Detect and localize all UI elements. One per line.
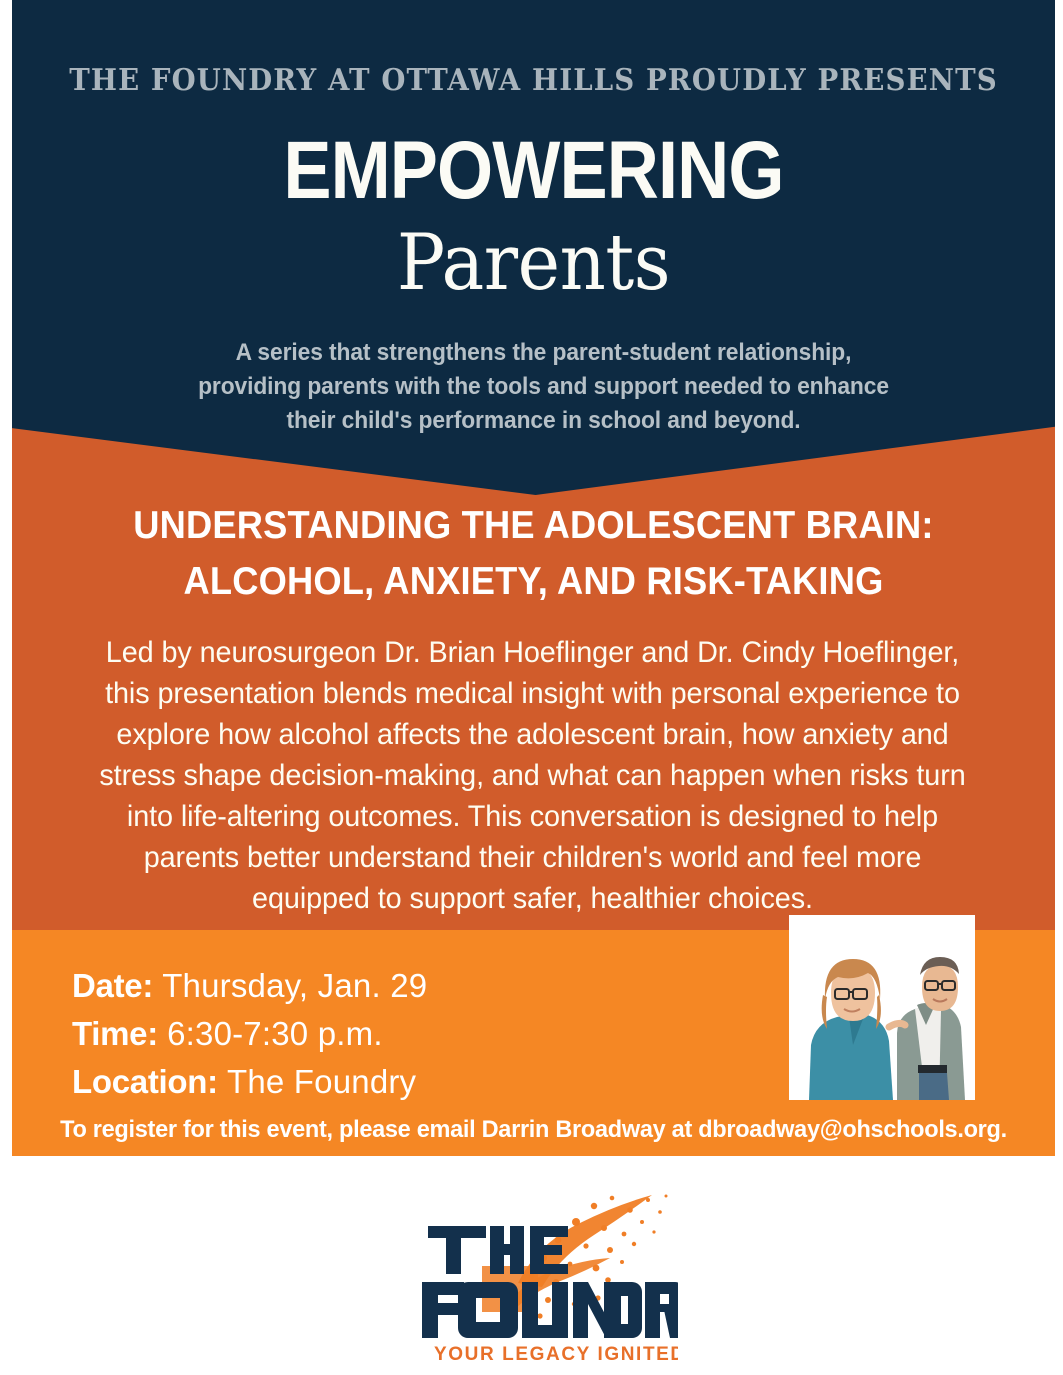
event-date-label: Date: [72, 967, 153, 1004]
session-description-line: this presentation blends medical insight… [50, 673, 1015, 714]
presenters-photo [789, 915, 975, 1100]
series-description-line: A series that strengthens the parent-stu… [138, 336, 948, 370]
session-description-line: Led by neurosurgeon Dr. Brian Hoeflinger… [50, 632, 1015, 673]
session-title-line: ALCOHOL, ANXIETY, AND RISK-TAKING [65, 554, 1002, 610]
event-time-label: Time: [72, 1015, 158, 1052]
flyer-title-line1: EMPOWERING [75, 128, 993, 214]
header-section-background: THE FOUNDRY AT OTTAWA HILLS PROUDLY PRES… [12, 0, 1055, 495]
session-title: UNDERSTANDING THE ADOLESCENT BRAIN: ALCO… [65, 498, 1002, 610]
event-time-row: Time: 6:30-7:30 p.m. [72, 1010, 427, 1058]
presenter-kicker: THE FOUNDRY AT OTTAWA HILLS PROUDLY PRES… [54, 63, 1014, 98]
event-location-row: Location: The Foundry [72, 1058, 427, 1106]
event-time-value: 6:30-7:30 p.m. [167, 1015, 383, 1052]
session-description-line: explore how alcohol affects the adolesce… [50, 714, 1015, 755]
session-description-line: parents better understand their children… [50, 837, 1015, 878]
logo-the-text [428, 1226, 568, 1274]
event-location-label: Location: [72, 1063, 218, 1100]
event-details: Date: Thursday, Jan. 29 Time: 6:30-7:30 … [72, 962, 427, 1106]
event-date-row: Date: Thursday, Jan. 29 [72, 962, 427, 1010]
logo-tagline: YOUR LEGACY IGNITED [434, 1344, 678, 1365]
session-description-line: into life-altering outcomes. This conver… [50, 796, 1015, 837]
session-description-line: stress shape decision-making, and what c… [50, 755, 1015, 796]
series-description-line: their child's performance in school and … [138, 404, 948, 438]
series-description: A series that strengthens the parent-stu… [138, 336, 948, 438]
series-description-line: providing parents with the tools and sup… [138, 370, 948, 404]
logo-foundry-text [422, 1282, 678, 1338]
flyer-title-line2: Parents [54, 221, 1014, 305]
event-date-value: Thursday, Jan. 29 [162, 967, 427, 1004]
foundry-logo-image: YOUR LEGACY IGNITED [398, 1188, 678, 1368]
session-title-line: UNDERSTANDING THE ADOLESCENT BRAIN: [65, 498, 1002, 554]
session-description: Led by neurosurgeon Dr. Brian Hoeflinger… [50, 632, 1015, 919]
presenters-photo-image [789, 915, 975, 1100]
flyer-page: THE FOUNDRY AT OTTAWA HILLS PROUDLY PRES… [0, 0, 1063, 1375]
event-location-value: The Foundry [227, 1063, 416, 1100]
session-description-line: equipped to support safer, healthier cho… [50, 878, 1015, 919]
foundry-logo: YOUR LEGACY IGNITED [398, 1188, 678, 1368]
registration-instructions: To register for this event, please email… [22, 1116, 1044, 1144]
